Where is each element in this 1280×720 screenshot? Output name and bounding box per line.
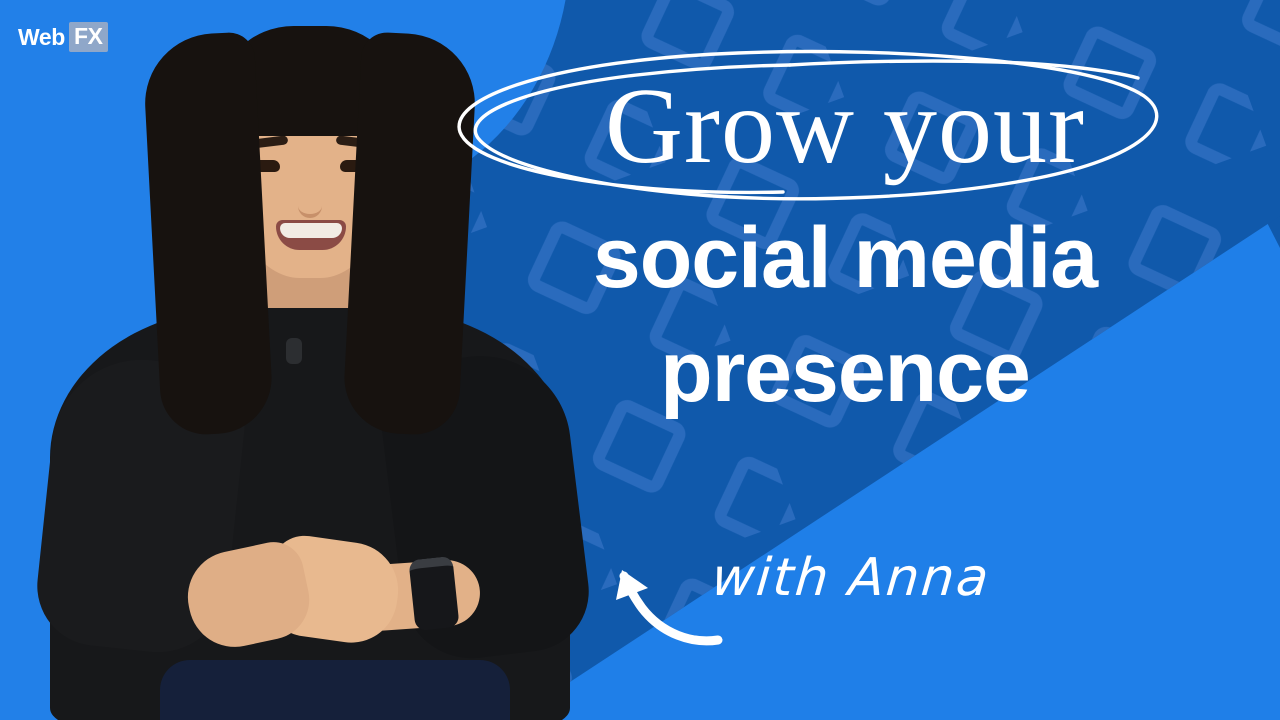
smartwatch-icon [408, 556, 459, 631]
headline-line-1-wrap: Grow your [430, 52, 1260, 202]
webfx-logo[interactable]: Web FX [18, 22, 108, 52]
teeth [280, 223, 342, 238]
logo-text-fx: FX [69, 22, 108, 52]
mouth [276, 220, 346, 250]
logo-text-web: Web [18, 26, 65, 49]
headline-line-3: presence [430, 320, 1260, 424]
hair-left [142, 31, 275, 436]
headline-line-2: social media [430, 206, 1260, 310]
lapel-mic-icon [286, 338, 302, 364]
lap [160, 660, 510, 720]
credit-block: with Anna [600, 532, 1070, 662]
nose [298, 188, 322, 218]
credit-text: with Anna [709, 548, 992, 608]
headline-line-1: Grow your [430, 52, 1260, 202]
headline-block: Grow your social media presence [430, 52, 1260, 424]
video-thumbnail: Web FX Grow your social media presence w… [0, 0, 1280, 720]
